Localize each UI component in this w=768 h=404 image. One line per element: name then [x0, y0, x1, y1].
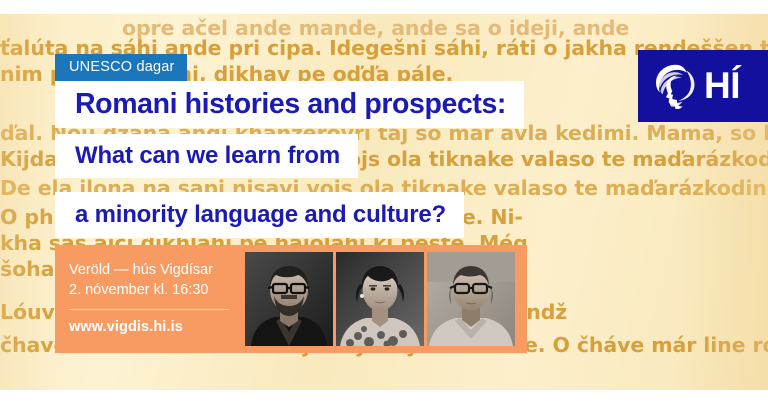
speaker-portraits	[245, 245, 523, 353]
university-of-iceland-head-icon	[654, 63, 698, 109]
event-info-panel: Veröld — hús Vigdísar 2. nóvember kl. 16…	[55, 245, 527, 353]
poster-root: opre ačel ande mande, ande sa o ideji, a…	[0, 0, 768, 404]
event-datetime: 2. nóvember kl. 16:30	[69, 281, 245, 301]
event-venue: Veröld — hús Vigdísar	[69, 261, 245, 281]
event-url-link[interactable]: www.vigdis.hi.is	[69, 318, 245, 336]
headline-line-2: What can we learn from	[55, 134, 358, 178]
unesco-days-badge: UNESCO dagar	[55, 54, 187, 81]
portrait-speaker-3	[427, 252, 515, 346]
info-divider	[69, 309, 229, 310]
university-of-iceland-logo: HÍ	[638, 50, 768, 122]
headline-line-1: Romani histories and prospects:	[55, 81, 524, 128]
portrait-speaker-2	[336, 252, 424, 346]
headline-line-3: a minority language and culture?	[55, 192, 464, 238]
hi-wordmark: HÍ	[704, 67, 740, 105]
portrait-speaker-1	[245, 252, 333, 346]
event-details: Veröld — hús Vigdísar 2. nóvember kl. 16…	[55, 245, 245, 353]
